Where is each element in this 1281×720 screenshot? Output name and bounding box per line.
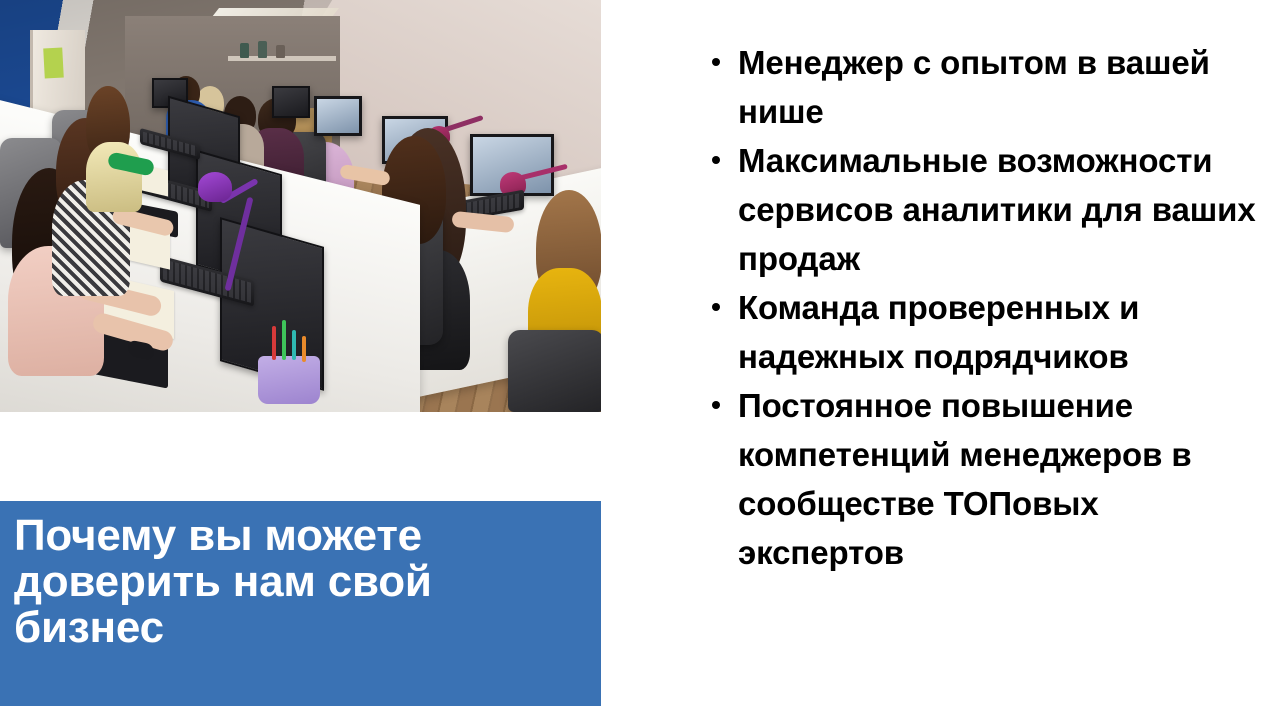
bullet-dot-icon: [712, 156, 720, 164]
monitor-back-row-2: [272, 86, 310, 118]
list-item-text: Постоянное повышение компетенций менедже…: [738, 387, 1192, 571]
pen-holder: [258, 356, 320, 404]
shelf-vase-icon: [258, 41, 267, 58]
lamp-head-purple: [198, 172, 232, 202]
cabinet-green-note: [43, 48, 64, 79]
list-item-text: Менеджер с опытом в вашей нише: [738, 44, 1210, 130]
benefits-list: Менеджер с опытом в вашей нише Максималь…: [700, 38, 1258, 577]
pen-green: [282, 320, 286, 360]
pen-teal: [292, 330, 296, 360]
chair-right-black: [508, 330, 601, 412]
list-item-text: Максимальные возможности сервисов аналит…: [738, 142, 1256, 277]
bullet-dot-icon: [712, 58, 720, 66]
bullet-dot-icon: [712, 401, 720, 409]
shelf-box-icon: [276, 45, 285, 58]
bullet-dot-icon: [712, 303, 720, 311]
list-item: Максимальные возможности сервисов аналит…: [738, 136, 1258, 283]
slide-canvas: Почему вы можете доверить нам свой бизне…: [0, 0, 1281, 720]
pen-red: [272, 326, 276, 360]
office-photo: [0, 0, 601, 412]
list-item-text: Команда проверенных и надежных подрядчик…: [738, 289, 1139, 375]
list-item: Постоянное повышение компетенций менедже…: [738, 381, 1258, 577]
slide-title: Почему вы можете доверить нам свой бизне…: [14, 513, 587, 651]
list-item: Команда проверенных и надежных подрядчик…: [738, 283, 1258, 381]
shelf-bottle-icon: [240, 43, 249, 58]
slide-title-box: Почему вы можете доверить нам свой бизне…: [0, 501, 601, 706]
monitor-center-bright: [314, 96, 362, 136]
list-item: Менеджер с опытом в вашей нише: [738, 38, 1258, 136]
pen-orange: [302, 336, 306, 362]
